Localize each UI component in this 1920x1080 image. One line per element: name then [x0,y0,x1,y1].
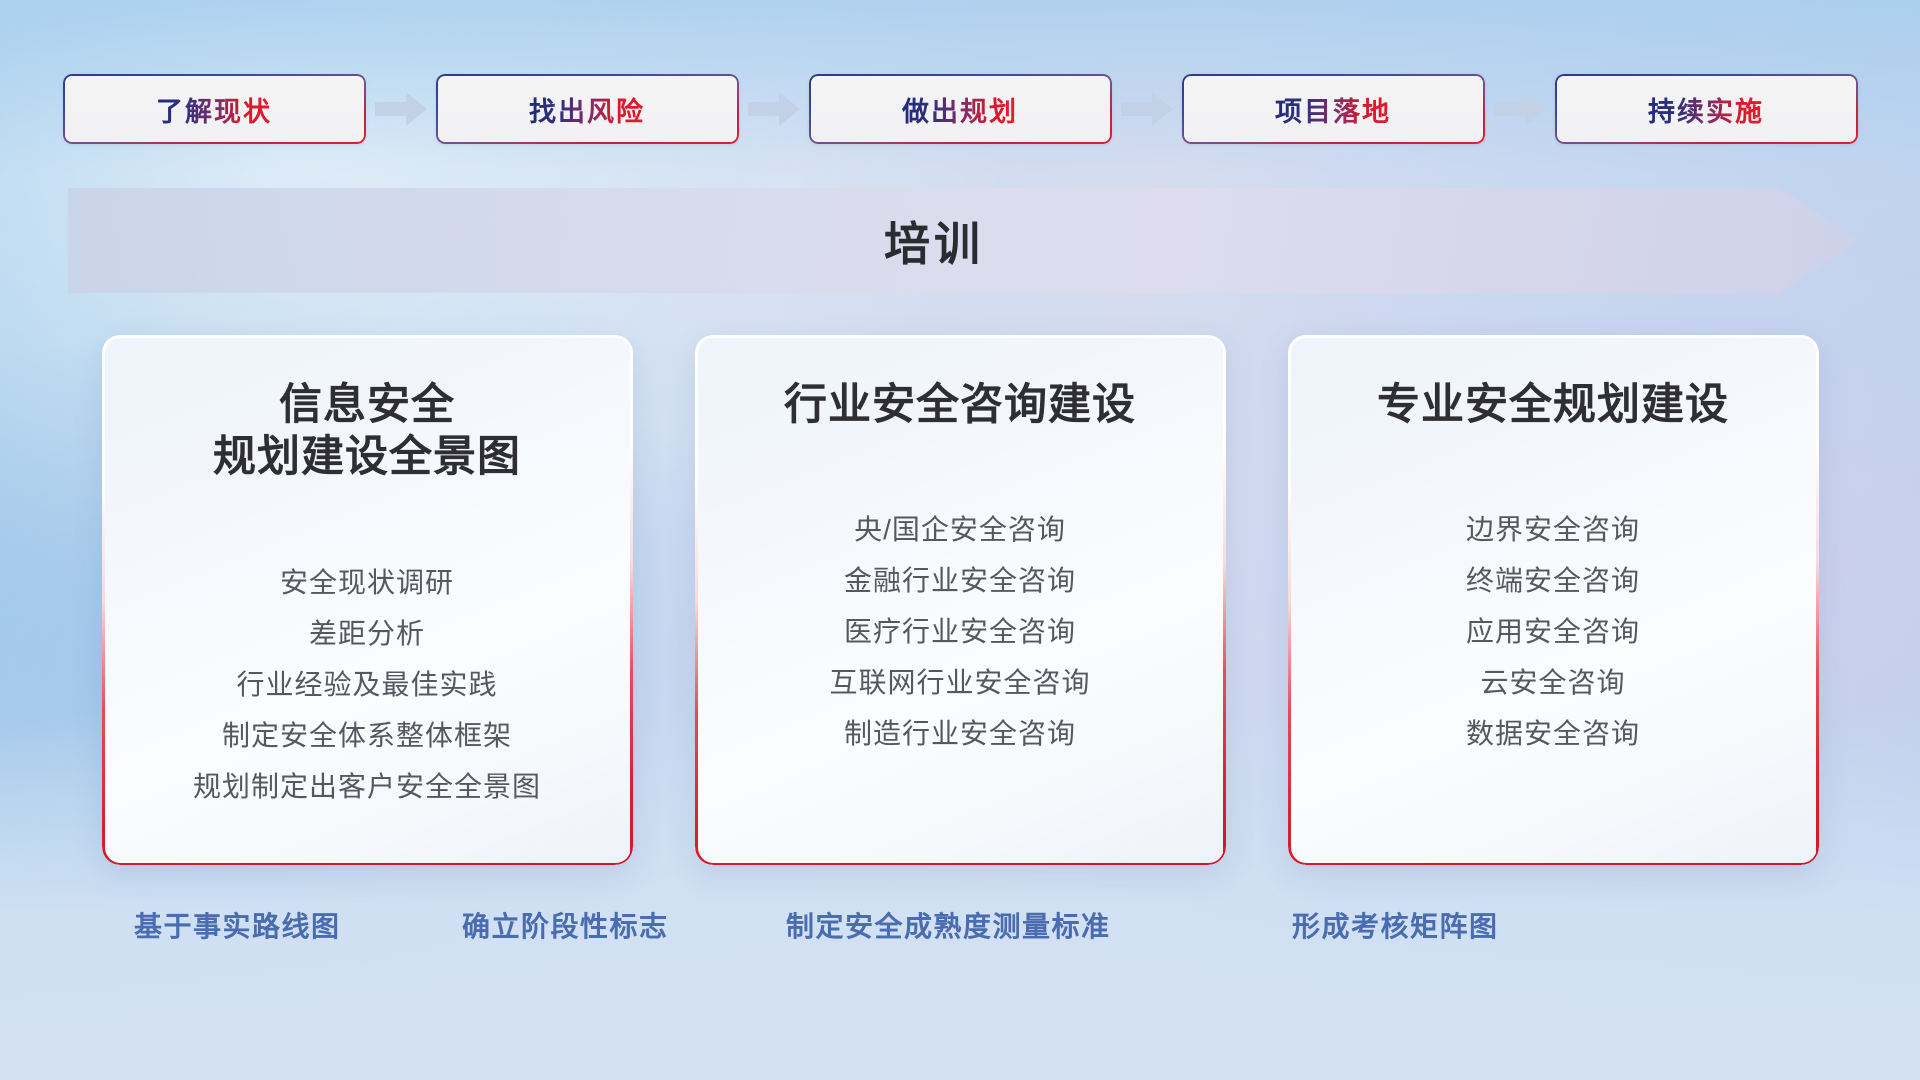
list-item: 差距分析 [309,613,425,655]
list-item: 医疗行业安全咨询 [844,611,1076,653]
process-step-row: 了解现状 找出风险 做出规划 项目落地 持续实施 [0,72,1920,146]
list-item: 边界安全咨询 [1466,509,1640,551]
step-box-4[interactable]: 项目落地 [1182,74,1485,144]
list-item: 制造行业安全咨询 [844,713,1076,755]
right-arrow-icon-4 [1494,92,1546,126]
card-divider-1 [136,508,598,522]
right-arrow-icon-3 [1121,92,1173,126]
list-item: 终端安全咨询 [1466,560,1640,602]
step-label-5: 持续实施 [1648,90,1764,129]
list-item: 央/国企安全咨询 [854,509,1066,551]
card-1[interactable]: 信息安全 规划建设全景图 安全现状调研 差距分析 行业经验及最佳实践 制定安全体… [102,335,633,865]
step-box-5[interactable]: 持续实施 [1555,74,1858,144]
card-row: 信息安全 规划建设全景图 安全现状调研 差距分析 行业经验及最佳实践 制定安全体… [0,335,1920,865]
right-arrow-icon-1 [375,92,427,126]
list-item: 应用安全咨询 [1466,611,1640,653]
caption-row: 基于事实路线图 确立阶段性标志 制定安全成熟度测量标准 形成考核矩阵图 [0,905,1920,961]
caption-2: 确立阶段性标志 [462,905,669,945]
step-box-2[interactable]: 找出风险 [436,74,739,144]
list-item: 行业经验及最佳实践 [236,664,497,706]
list-item: 云安全咨询 [1480,662,1625,704]
card-divider-2 [729,455,1191,469]
list-item: 安全现状调研 [280,562,454,604]
caption-3: 制定安全成熟度测量标准 [786,905,1111,945]
step-box-3[interactable]: 做出规划 [809,74,1112,144]
card-3[interactable]: 专业安全规划建设 边界安全咨询 终端安全咨询 应用安全咨询 云安全咨询 数据安全… [1288,335,1819,865]
card-list-1: 安全现状调研 差距分析 行业经验及最佳实践 制定安全体系整体框架 规划制定出客户… [193,562,541,808]
right-arrow-icon-2 [748,92,800,126]
step-label-4: 项目落地 [1275,90,1391,129]
caption-1: 基于事实路线图 [134,905,341,945]
card-list-3: 边界安全咨询 终端安全咨询 应用安全咨询 云安全咨询 数据安全咨询 [1466,509,1640,755]
list-item: 金融行业安全咨询 [844,560,1076,602]
step-label-1: 了解现状 [156,90,272,129]
card-divider-3 [1322,455,1784,469]
card-title-2: 行业安全咨询建设 [784,379,1136,431]
step-label-2: 找出风险 [529,90,645,129]
card-2[interactable]: 行业安全咨询建设 央/国企安全咨询 金融行业安全咨询 医疗行业安全咨询 互联网行… [695,335,1226,865]
step-box-1[interactable]: 了解现状 [63,74,366,144]
list-item: 数据安全咨询 [1466,713,1640,755]
list-item: 规划制定出客户安全全景图 [193,766,541,808]
step-label-3: 做出规划 [902,90,1018,129]
list-item: 制定安全体系整体框架 [222,715,512,757]
card-list-2: 央/国企安全咨询 金融行业安全咨询 医疗行业安全咨询 互联网行业安全咨询 制造行… [829,509,1090,755]
list-item: 互联网行业安全咨询 [829,662,1090,704]
card-title-1: 信息安全 规划建设全景图 [213,379,521,484]
caption-4: 形成考核矩阵图 [1292,905,1499,945]
banner-title: 培训 [68,188,1858,293]
card-title-3: 专业安全规划建设 [1377,379,1729,431]
training-banner: 培训 [68,188,1858,293]
